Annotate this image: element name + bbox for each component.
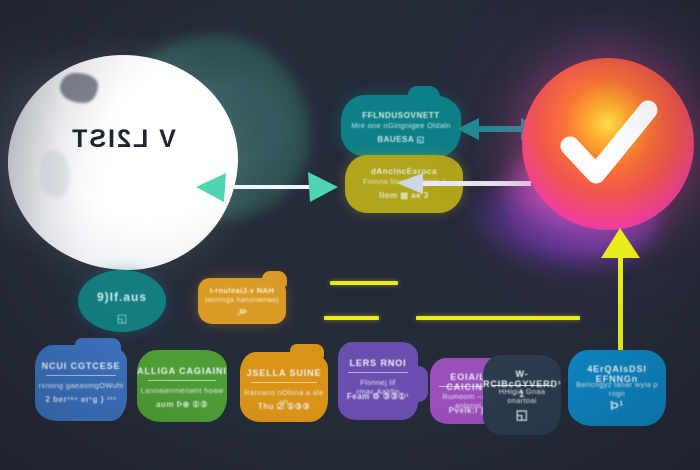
mid-olive-line3: Ilom ▧ ae 3 [345,191,463,200]
oval-node-glyph-icon: ◱ [78,312,166,325]
bottom-node-meta: aum Þ⊕ ①③ [137,400,227,409]
connector-line-yellow-2 [324,316,379,320]
bottom-node-divider [251,382,318,383]
bottom-node-subtitle: Lanoaienmenwnt hoaw [137,386,227,395]
bottom-node-card[interactable]: JSELLA SUINE Ranrano nOlona a ale un Thu… [240,352,328,422]
bottom-node-meta: Feam ⚙ ③③①¹ [338,392,418,401]
bottom-node-title: NCUI CGTCESE [35,361,127,371]
mid-teal-line2: Mre one nGingnigee Oldaln [341,121,461,130]
callout-node-orange[interactable]: I-rnuleaiJ.v NAH Ianninga hanonamaa) ,IÞ [198,278,286,324]
bottom-node-meta: 2 ber¹⁶ⁿ er¹g } ¹¹¹ [35,395,127,404]
bottom-node-divider [46,375,116,376]
diagram-canvas: V L2IST FFLNDUSOVNETT Mre one nGingnigee… [0,0,700,470]
bottom-node-card[interactable]: NCUI CGTCESE rsnong gaeaomgOWuhi 2 ber¹⁶… [35,345,127,421]
mid-node-teal[interactable]: FFLNDUSOVNETT Mre one nGingnigee Oldaln … [341,95,461,157]
oval-node-label: 9)If.aus [78,290,166,304]
bottom-node-subtitle: HHigiA Gnaa onartoai [483,387,561,405]
bottom-node-title: LERS RNOI [338,358,418,368]
mid-olive-line2: Fnmna liionael !fizela / [345,177,463,186]
bottom-node-divider [492,385,551,386]
connector-line-yellow-3 [416,316,580,320]
mid-teal-line3: BAUESA ◱ [341,135,461,144]
mid-olive-line1: dAncincEsroca [345,167,463,176]
left-sphere-artifact-notch [40,150,70,198]
mid-teal-line1: FFLNDUSOVNETT [341,111,461,120]
callout-line3: ,IÞ [198,307,286,316]
bottom-node-title: JSELLA SUINE [240,368,328,378]
bottom-node-subtitle: rsnong gaeaomgOWuhi [35,381,127,390]
bottom-node-divider [148,380,216,381]
bottom-node-divider [348,372,409,373]
oval-node-teal[interactable]: 9)If.aus ◱ [78,270,166,332]
bottom-node-meta: Þ¹ [568,398,666,413]
left-sphere-artifact-chip [60,73,98,103]
bottom-node-subtitle: Bericngyz lanar wyia p rogn [568,380,666,398]
bottom-node-meta: ◱ [483,407,561,423]
checkmark-icon [522,58,694,230]
bottom-node-card[interactable]: W- RCIBcGYVERD¹ 1 HHigiA Gnaa onartoai ◱ [483,355,561,435]
bottom-node-meta: Thu ☑ ①③③ [240,402,328,411]
callout-line1: I-rnuleaiJ.v NAH [198,286,286,295]
bottom-node-card[interactable]: LERS RNOI Flonnej lif rmac.Aalrlin Feam … [338,342,418,420]
left-sphere-label: V L2IST [8,125,238,154]
callout-line2: Ianninga hanonamaa) [198,297,286,304]
connector-line-yellow-1 [330,281,398,285]
bottom-node-card[interactable]: 4ErQAIsDSI EFNNGn Bericngyz lanar wyia p… [568,350,666,426]
bottom-node-card[interactable]: ALLIGA CAGIAINI Lanoaienmenwnt hoaw aum … [137,350,227,422]
bottom-node-title: ALLIGA CAGIAINI [137,366,227,376]
mid-node-olive[interactable]: dAncincEsroca Fnmna liionael !fizela / I… [345,155,463,213]
